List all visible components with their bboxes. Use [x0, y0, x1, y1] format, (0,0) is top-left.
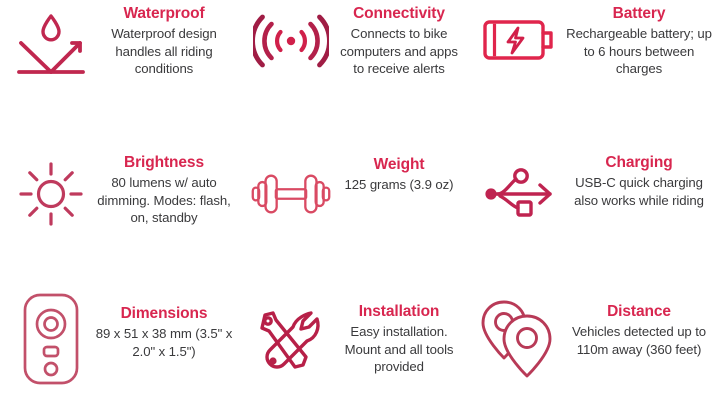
brightness-icon: [8, 139, 94, 249]
feature-text-distance: Distance Vehicles detected up to 110m aw…: [564, 274, 714, 358]
distance-icon: [478, 274, 564, 398]
feature-title: Weight: [374, 155, 425, 174]
feature-cell-battery: Battery Rechargeable battery; up to 6 ho…: [470, 0, 720, 135]
feature-description: 125 grams (3.9 oz): [345, 176, 454, 193]
feature-description: 89 x 51 x 38 mm (3.5" x 2.0" x 1.5"): [94, 325, 234, 360]
feature-title: Battery: [613, 4, 666, 23]
feature-cell-installation: Installation Easy installation. Mount an…: [240, 270, 470, 405]
dimensions-icon: [8, 274, 94, 398]
feature-title: Waterproof: [123, 4, 204, 23]
feature-description: Rechargeable battery; up to 6 hours betw…: [564, 25, 714, 77]
feature-text-dimensions: Dimensions 89 x 51 x 38 mm (3.5" x 2.0" …: [94, 274, 234, 360]
feature-title: Distance: [607, 302, 671, 321]
feature-text-battery: Battery Rechargeable battery; up to 6 ho…: [564, 4, 714, 78]
feature-cell-connectivity: Connectivity Connects to bike computers …: [240, 0, 470, 135]
feature-title: Dimensions: [121, 304, 208, 323]
feature-cell-charging: Charging USB-C quick charging also works…: [470, 135, 720, 270]
feature-text-waterproof: Waterproof Waterproof design handles all…: [94, 4, 234, 78]
feature-title: Connectivity: [353, 4, 445, 23]
feature-cell-weight: Weight 125 grams (3.9 oz): [240, 135, 470, 270]
feature-cell-brightness: Brightness 80 lumens w/ auto dimming. Mo…: [0, 135, 240, 270]
feature-text-installation: Installation Easy installation. Mount an…: [334, 274, 464, 376]
feature-description: USB-C quick charging also works while ri…: [564, 174, 714, 209]
charging-icon: [478, 139, 564, 249]
feature-cell-waterproof: Waterproof Waterproof design handles all…: [0, 0, 240, 135]
weight-icon: [248, 139, 334, 249]
installation-icon: [248, 274, 334, 398]
feature-description: Connects to bike computers and apps to r…: [334, 25, 464, 77]
feature-text-connectivity: Connectivity Connects to bike computers …: [334, 4, 464, 78]
feature-title: Brightness: [124, 153, 204, 172]
feature-grid: Waterproof Waterproof design handles all…: [0, 0, 720, 405]
feature-text-weight: Weight 125 grams (3.9 oz): [334, 139, 464, 194]
waterproof-icon: [8, 4, 94, 104]
feature-title: Charging: [605, 153, 672, 172]
feature-text-charging: Charging USB-C quick charging also works…: [564, 139, 714, 209]
feature-description: Easy installation. Mount and all tools p…: [334, 323, 464, 375]
feature-cell-dimensions: Dimensions 89 x 51 x 38 mm (3.5" x 2.0" …: [0, 270, 240, 405]
feature-text-brightness: Brightness 80 lumens w/ auto dimming. Mo…: [94, 139, 234, 227]
feature-cell-distance: Distance Vehicles detected up to 110m aw…: [470, 270, 720, 405]
battery-icon: [478, 4, 564, 104]
feature-description: Vehicles detected up to 110m away (360 f…: [564, 323, 714, 358]
connectivity-icon: [248, 4, 334, 104]
feature-description: Waterproof design handles all riding con…: [94, 25, 234, 77]
feature-title: Installation: [359, 302, 440, 321]
feature-description: 80 lumens w/ auto dimming. Modes: flash,…: [94, 174, 234, 226]
